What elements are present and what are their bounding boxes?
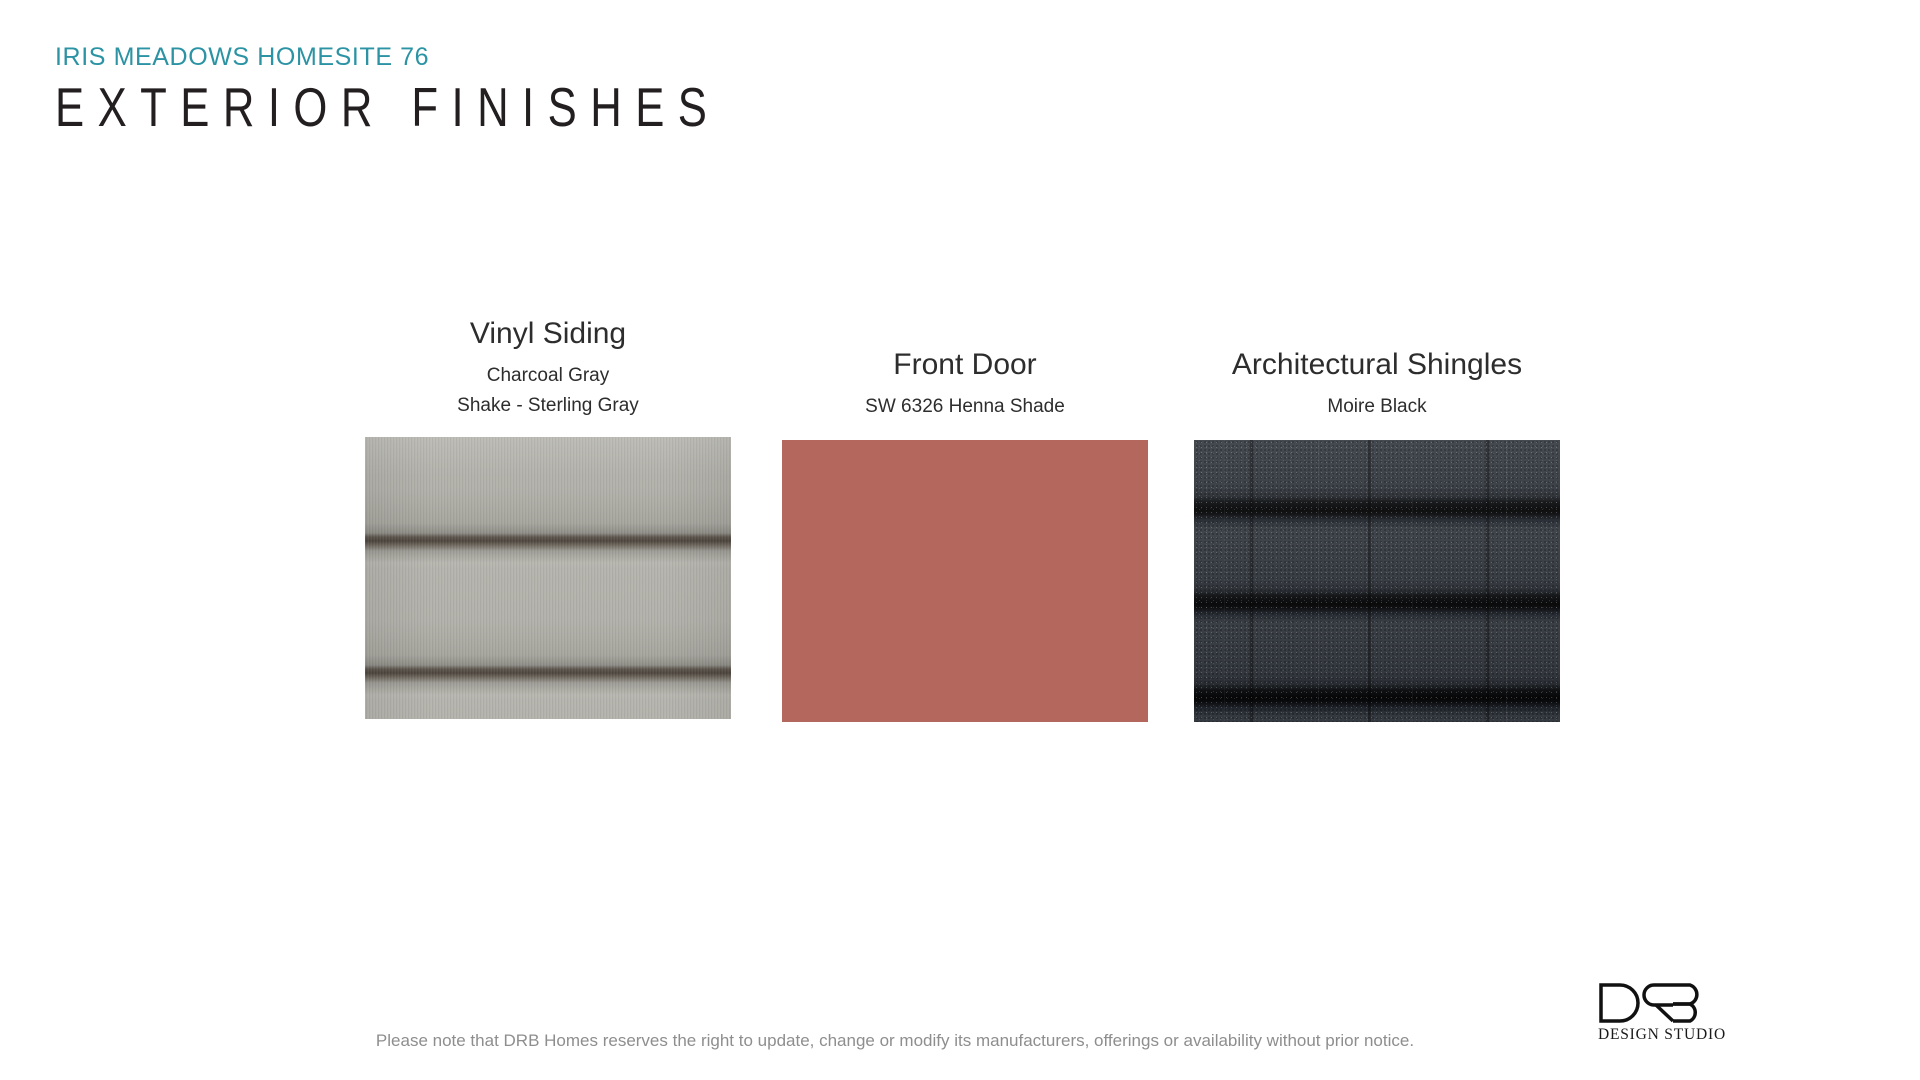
disclaimer-text: Please note that DRB Homes reserves the … [0, 1030, 1790, 1052]
finish-detail-line: Charcoal Gray [365, 361, 731, 391]
finish-card-architectural-shingles: Architectural Shingles Moire Black [1194, 347, 1560, 722]
finish-title: Architectural Shingles [1194, 347, 1560, 383]
swatch-image-vinyl-siding [365, 437, 731, 719]
finish-details: Charcoal Gray Shake - Sterling Gray [365, 361, 731, 421]
finish-title: Front Door [782, 347, 1148, 383]
drb-design-studio-logo: DESIGN STUDIO [1598, 982, 1718, 1044]
finish-detail-line: Moire Black [1194, 392, 1560, 422]
finish-title: Vinyl Siding [365, 316, 731, 352]
logo-wordmark: DESIGN STUDIO [1598, 1026, 1718, 1044]
swatch-image-architectural-shingles [1194, 440, 1560, 722]
finish-card-vinyl-siding: Vinyl Siding Charcoal Gray Shake - Sterl… [365, 316, 731, 719]
finish-selection-board: Vinyl Siding Charcoal Gray Shake - Sterl… [0, 0, 1920, 1080]
finish-detail-line: Shake - Sterling Gray [365, 391, 731, 421]
finish-details: Moire Black [1194, 392, 1560, 422]
swatch-image-front-door [782, 440, 1148, 722]
finish-detail-line: SW 6326 Henna Shade [782, 392, 1148, 422]
finish-details: SW 6326 Henna Shade [782, 392, 1148, 422]
finish-card-front-door: Front Door SW 6326 Henna Shade [782, 347, 1148, 722]
drb-monogram-icon [1598, 982, 1710, 1024]
